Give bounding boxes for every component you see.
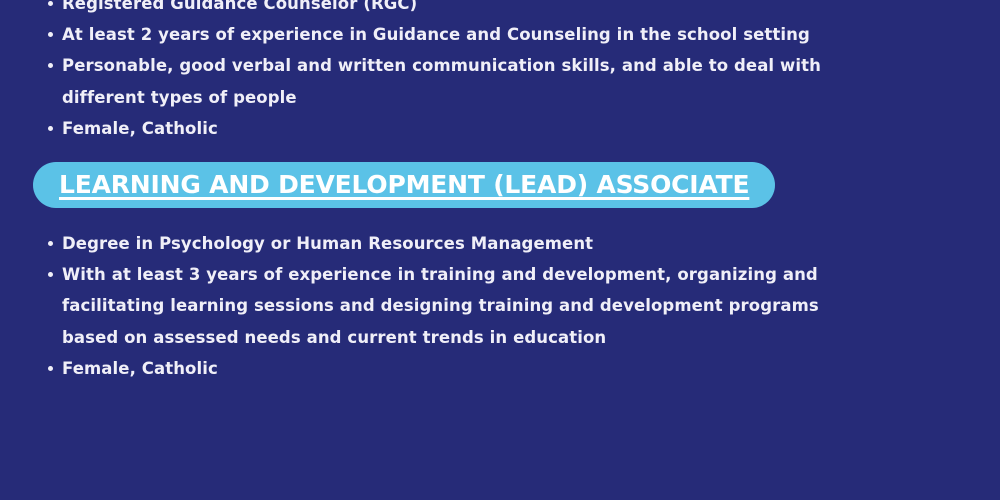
list-item: Personable, good verbal and written comm… [0, 50, 852, 112]
job-title-badge: LEARNING AND DEVELOPMENT (LEAD) ASSOCIAT… [33, 162, 775, 208]
bullet-dot-icon [48, 1, 53, 6]
list-item-text: Degree in Psychology or Human Resources … [62, 234, 593, 253]
list-item: With at least 3 years of experience in t… [0, 259, 852, 353]
job-title-label: LEARNING AND DEVELOPMENT (LEAD) ASSOCIAT… [59, 172, 749, 197]
list-item-text: With at least 3 years of experience in t… [62, 265, 819, 346]
job-title-row: LEARNING AND DEVELOPMENT (LEAD) ASSOCIAT… [0, 162, 1000, 208]
list-item-text: Female, Catholic [62, 119, 218, 138]
list-item-text: Personable, good verbal and written comm… [62, 56, 821, 106]
list-item: Female, Catholic [0, 113, 852, 144]
list-item: At least 2 years of experience in Guidan… [0, 19, 852, 50]
bullet-dot-icon [48, 366, 53, 371]
list-item: Registered Guidance Counselor (RGC) [0, 0, 852, 19]
guidance-counselor-requirement-list: Registered Guidance Counselor (RGC) At l… [0, 0, 1000, 144]
bullet-dot-icon [48, 272, 53, 277]
list-item: Female, Catholic [0, 353, 852, 384]
job-posting-slide: Registered Guidance Counselor (RGC) At l… [0, 0, 1000, 500]
bullet-dot-icon [48, 32, 53, 37]
bullet-dot-icon [48, 241, 53, 246]
list-item-text: Female, Catholic [62, 359, 218, 378]
bottom-spacer [0, 384, 1000, 424]
list-item: Degree in Psychology or Human Resources … [0, 228, 852, 259]
list-item-text: Registered Guidance Counselor (RGC) [62, 0, 417, 13]
bullet-dot-icon [48, 126, 53, 131]
list-item-text: At least 2 years of experience in Guidan… [62, 25, 810, 44]
slide-content: Registered Guidance Counselor (RGC) At l… [0, 0, 1000, 424]
bullet-dot-icon [48, 63, 53, 68]
lead-associate-requirement-list: Degree in Psychology or Human Resources … [0, 228, 1000, 384]
